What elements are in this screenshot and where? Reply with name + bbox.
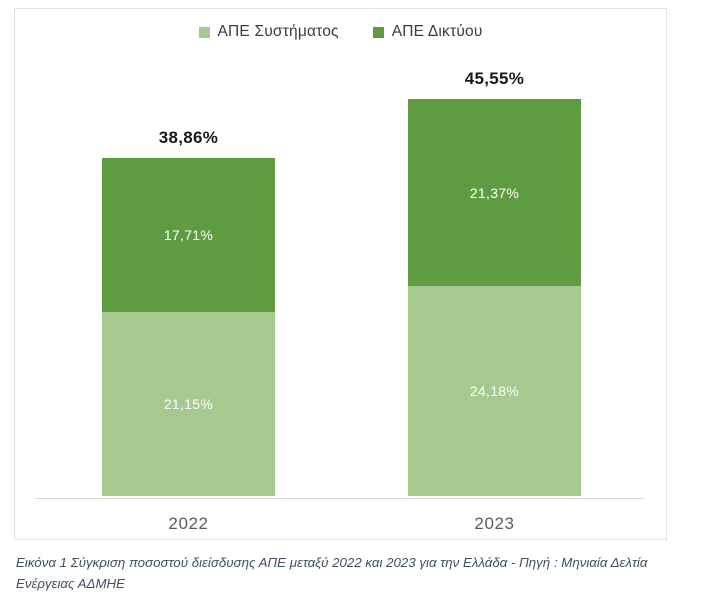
x-axis-label-2023: 2023	[408, 514, 581, 534]
bar-total-label-2023: 45,55%	[408, 69, 581, 89]
x-axis-label-2022: 2022	[102, 514, 275, 534]
bar-stack-2022: 17,71% 21,15%	[102, 158, 275, 496]
figure-caption: Εικόνα 1 Σύγκριση ποσοστού διείσδυσης ΑΠ…	[16, 553, 706, 594]
bar-segment-ape-systimatos-2022[interactable]: 21,15%	[102, 312, 275, 496]
bar-segment-ape-diktyou-2022[interactable]: 17,71%	[102, 158, 275, 312]
bar-segment-label-ape-diktyou-2023: 21,37%	[470, 185, 519, 201]
bar-segment-ape-diktyou-2023[interactable]: 21,37%	[408, 99, 581, 286]
bar-total-label-2022: 38,86%	[102, 128, 275, 148]
chart-container: ΑΠΕ Συστήματος ΑΠΕ Δικτύου 38,86% 17,71%…	[14, 8, 667, 540]
bar-segment-label-ape-systimatos-2023: 24,18%	[470, 383, 519, 399]
page-root: ΑΠΕ Συστήματος ΑΠΕ Δικτύου 38,86% 17,71%…	[0, 0, 728, 596]
x-axis-line	[35, 498, 644, 499]
bar-stack-2023: 21,37% 24,18%	[408, 99, 581, 496]
bar-segment-label-ape-systimatos-2022: 21,15%	[164, 396, 213, 412]
bar-segment-label-ape-diktyou-2022: 17,71%	[164, 227, 213, 243]
plot-area: 38,86% 17,71% 21,15% 2022 45,55% 21,37%	[15, 9, 666, 539]
bar-segment-ape-systimatos-2023[interactable]: 24,18%	[408, 286, 581, 496]
